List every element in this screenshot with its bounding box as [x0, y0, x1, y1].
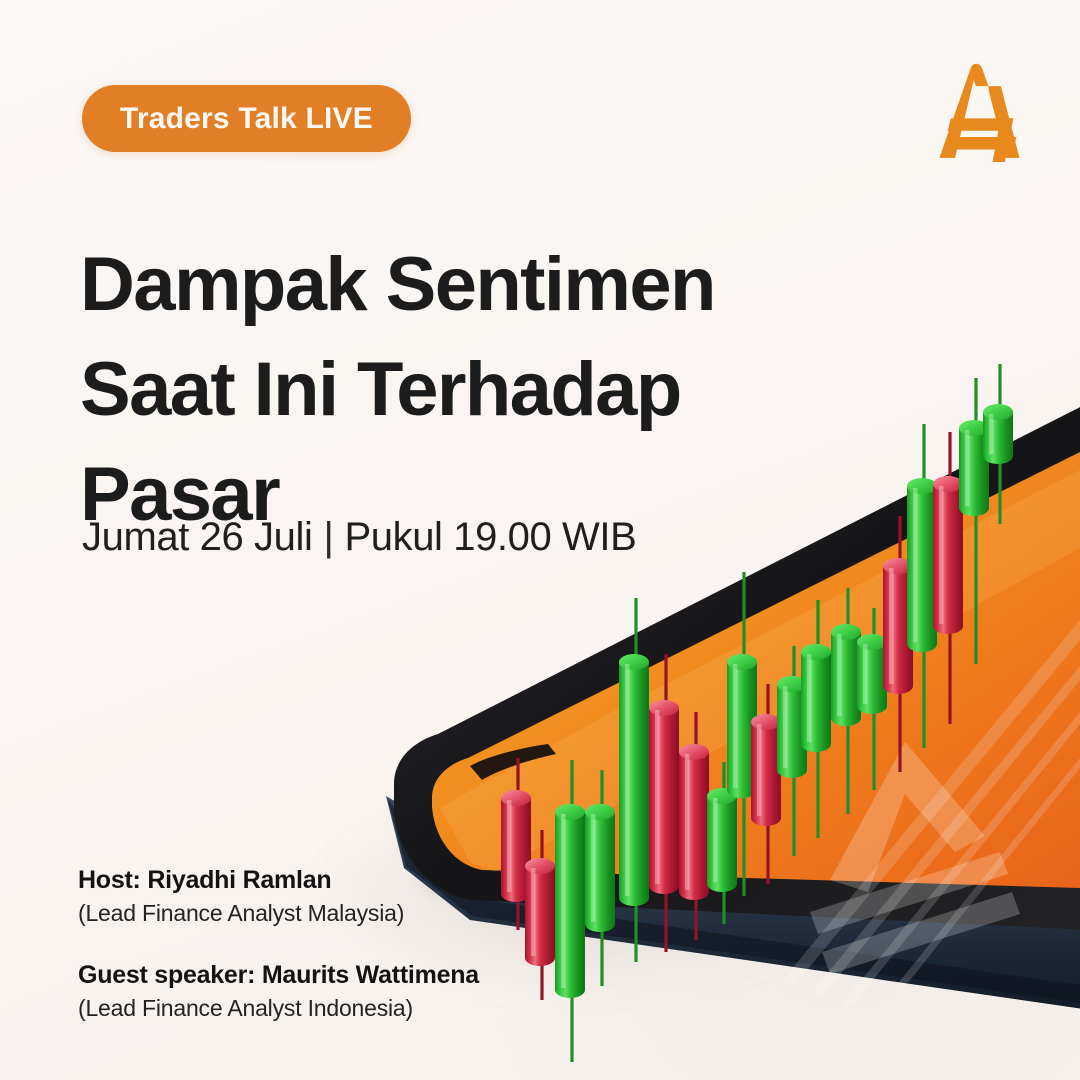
candle-cap [907, 478, 937, 494]
candle-cap [649, 700, 679, 716]
candle-highlight [863, 644, 868, 704]
candle-highlight [807, 654, 812, 742]
candle-highlight [889, 568, 894, 684]
candle-cap [751, 714, 781, 730]
candle-highlight [837, 634, 842, 716]
candle-highlight [913, 488, 918, 642]
candle-cap [619, 654, 649, 670]
guest-role: (Lead Finance Analyst Indonesia) [78, 995, 479, 1022]
candle-highlight [965, 430, 970, 506]
candle-cap [933, 476, 963, 492]
candle-body [679, 752, 709, 900]
candle-body [831, 632, 861, 726]
candle-body [585, 812, 615, 932]
candle-cap [555, 804, 585, 820]
candle-highlight [655, 710, 660, 884]
candle-body [933, 484, 963, 634]
candle-body [751, 722, 781, 826]
candle-body [857, 642, 887, 714]
candle-body [801, 652, 831, 752]
host-credit: Host: Riyadhi Ramlan (Lead Finance Analy… [78, 866, 479, 927]
candle-highlight [713, 798, 718, 882]
candle-body [525, 866, 555, 966]
candle-highlight [733, 664, 738, 788]
candle-body [707, 796, 737, 892]
candle-highlight [561, 814, 566, 988]
candle-highlight [685, 754, 690, 890]
speaker-credits: Host: Riyadhi Ramlan (Lead Finance Analy… [78, 866, 479, 1022]
candle-highlight [989, 414, 994, 454]
candle-body [907, 486, 937, 652]
candle-highlight [591, 814, 596, 922]
candle-cap [983, 404, 1013, 420]
candle-highlight [531, 868, 536, 956]
candle-cap [857, 634, 887, 650]
candle-cap [525, 858, 555, 874]
candle-cap [831, 624, 861, 640]
candle-cap [727, 654, 757, 670]
host-role: (Lead Finance Analyst Malaysia) [78, 900, 479, 927]
guest-name: Guest speaker: Maurits Wattimena [78, 961, 479, 990]
candle-body [555, 812, 585, 998]
candle-highlight [507, 800, 512, 892]
candle-highlight [757, 724, 762, 816]
candle-highlight [783, 686, 788, 768]
candle-highlight [939, 486, 944, 624]
candle-cap [801, 644, 831, 660]
candle-body [649, 708, 679, 894]
guest-credit: Guest speaker: Maurits Wattimena (Lead F… [78, 961, 479, 1022]
candle-cap [501, 790, 531, 806]
candle-cap [585, 804, 615, 820]
candle-cap [679, 744, 709, 760]
host-name: Host: Riyadhi Ramlan [78, 866, 479, 895]
poster-canvas: Traders Talk LIVE Dampak Sentimen Saat I… [0, 0, 1080, 1080]
candle-highlight [625, 664, 630, 896]
candle-body [619, 662, 649, 906]
